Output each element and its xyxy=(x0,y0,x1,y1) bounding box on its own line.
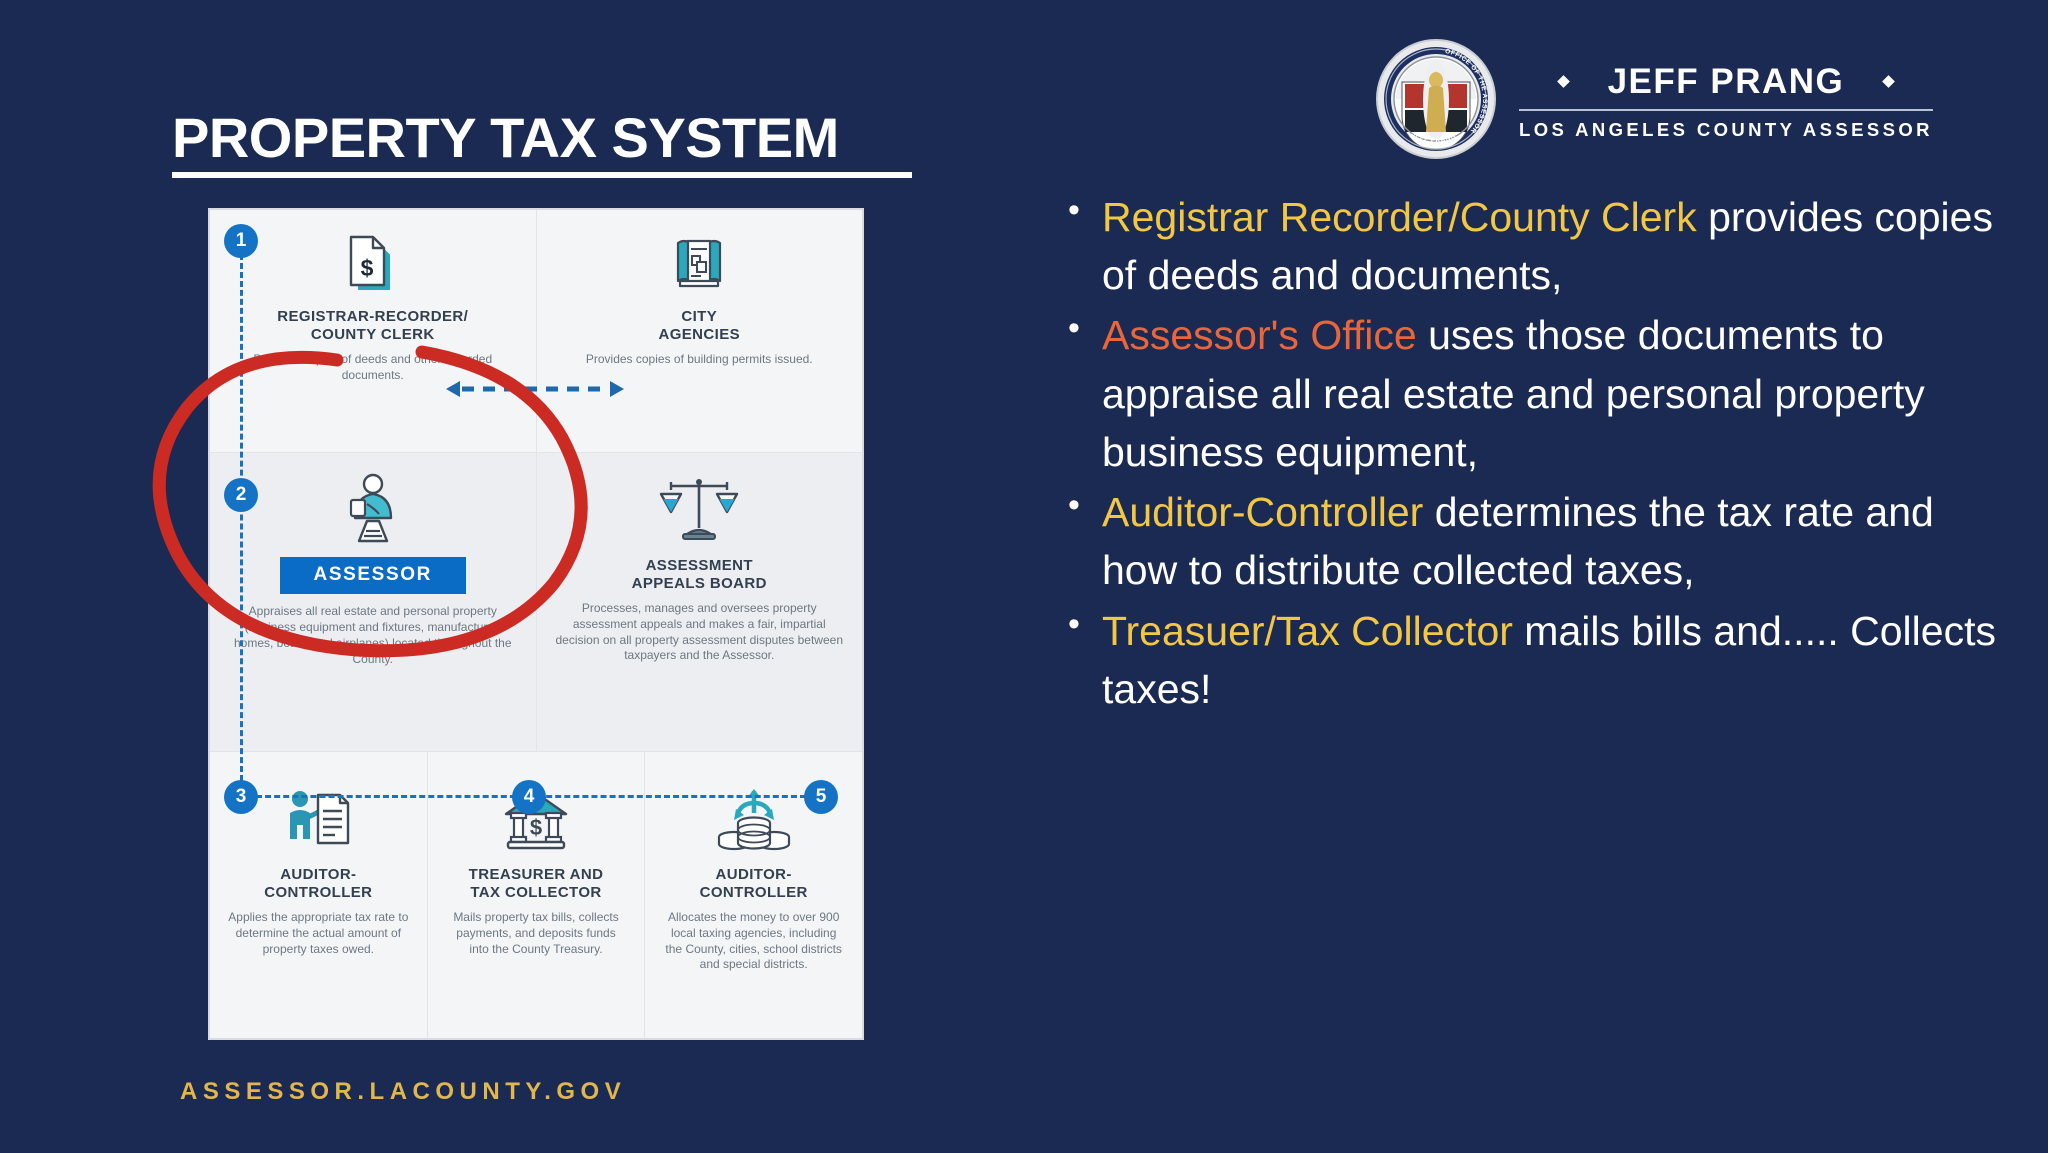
cell-title: AUDITOR- CONTROLLER xyxy=(222,866,415,903)
cell-title-line-1: TREASURER AND xyxy=(440,866,633,884)
bullet-item: Auditor-Controller determines the tax ra… xyxy=(1060,483,2000,599)
info-row-2: ASSESSOR Appraises all real estate and p… xyxy=(210,452,862,752)
svg-text:$: $ xyxy=(360,255,373,281)
la-county-assessor-seal-icon: OFFICE OF THE ASSESSOR JEFF PRANG xyxy=(1375,38,1497,160)
diamond-right-icon xyxy=(1882,75,1895,88)
scales-of-justice-icon xyxy=(549,471,851,549)
page-title: PROPERTY TAX SYSTEM xyxy=(172,105,839,170)
brand-block: OFFICE OF THE ASSESSOR JEFF PRANG JEFF P… xyxy=(1375,38,1933,160)
bullet-item: Treasuer/Tax Collector mails bills and..… xyxy=(1060,602,2000,718)
cell-title-line-2: TAX COLLECTOR xyxy=(440,884,633,902)
cell-title-line-1: CITY xyxy=(549,308,851,326)
cell-title-line-2: CONTROLLER xyxy=(222,884,415,902)
bullet-highlight: Registrar Recorder/County Clerk xyxy=(1102,194,1697,240)
cell-title-line-1: ASSESSMENT xyxy=(549,557,851,575)
cell-assessment-appeals-board: ASSESSMENT APPEALS BOARD Processes, mana… xyxy=(536,453,863,751)
step-marker-5: 5 xyxy=(804,780,838,814)
cell-title-line-1: AUDITOR- xyxy=(222,866,415,884)
blueprint-icon xyxy=(549,228,851,300)
cell-title-line-2: COUNTY CLERK xyxy=(222,326,524,344)
brand-divider xyxy=(1519,109,1933,111)
vertical-dashed-connector xyxy=(240,254,243,799)
cell-title-line-2: AGENCIES xyxy=(549,326,851,344)
bullet-highlight: Auditor-Controller xyxy=(1102,489,1423,535)
assessor-person-icon xyxy=(222,471,524,549)
cell-description: Applies the appropriate tax rate to dete… xyxy=(222,910,415,958)
step-marker-3: 3 xyxy=(224,780,258,814)
cell-title-line-1: AUDITOR- xyxy=(657,866,850,884)
cell-title: REGISTRAR-RECORDER/ COUNTY CLERK xyxy=(222,308,524,345)
bidirectional-dashed-arrow-icon xyxy=(442,378,628,400)
step-marker-4: 4 xyxy=(512,780,546,814)
cell-title: AUDITOR- CONTROLLER xyxy=(657,866,850,903)
property-tax-flow-infographic: 1 2 3 4 5 $ REGISTRAR-RECORDER/ COUNTY C… xyxy=(208,208,864,1040)
cell-description: Allocates the money to over 900 local ta… xyxy=(657,910,850,974)
cell-title: TREASURER AND TAX COLLECTOR xyxy=(440,866,633,903)
cell-title-line-2: APPEALS BOARD xyxy=(549,575,851,593)
cell-title: CITY AGENCIES xyxy=(549,308,851,345)
cell-title-line-2: CONTROLLER xyxy=(657,884,850,902)
brand-name-row: JEFF PRANG xyxy=(1559,62,1894,102)
document-dollar-icon: $ xyxy=(222,228,524,300)
cell-title-line-1: REGISTRAR-RECORDER/ xyxy=(222,308,524,326)
cell-registrar-recorder: $ REGISTRAR-RECORDER/ COUNTY CLERK Provi… xyxy=(210,210,536,452)
info-row-1: $ REGISTRAR-RECORDER/ COUNTY CLERK Provi… xyxy=(210,210,862,452)
bullet-item: Assessor's Office uses those documents t… xyxy=(1060,306,2000,481)
assessor-badge: ASSESSOR xyxy=(280,557,466,594)
bullet-item: Registrar Recorder/County Clerk provides… xyxy=(1060,188,2000,304)
bullet-highlight: Assessor's Office xyxy=(1102,312,1417,358)
step-marker-2: 2 xyxy=(224,478,258,512)
footer-url: ASSESSOR.LACOUNTY.GOV xyxy=(180,1078,626,1106)
cell-city-agencies: CITY AGENCIES Provides copies of buildin… xyxy=(536,210,863,452)
step-marker-1: 1 xyxy=(224,224,258,258)
cell-description: Appraises all real estate and personal p… xyxy=(222,604,524,668)
title-underline xyxy=(172,172,912,178)
cell-title: ASSESSMENT APPEALS BOARD xyxy=(549,557,851,594)
cell-description: Provides copies of building permits issu… xyxy=(549,352,851,368)
svg-text:$: $ xyxy=(530,815,542,840)
cell-description: Mails property tax bills, collects payme… xyxy=(440,910,633,958)
cell-assessor: ASSESSOR Appraises all real estate and p… xyxy=(210,453,536,751)
brand-subtitle: LOS ANGELES COUNTY ASSESSOR xyxy=(1519,119,1933,141)
bullet-highlight: Treasuer/Tax Collector xyxy=(1102,608,1513,654)
cell-description: Processes, manages and oversees property… xyxy=(549,601,851,665)
brand-text: JEFF PRANG LOS ANGELES COUNTY ASSESSOR xyxy=(1519,58,1933,141)
bullet-list: Registrar Recorder/County Clerk provides… xyxy=(1060,188,2000,720)
diamond-left-icon xyxy=(1557,75,1570,88)
brand-name: JEFF PRANG xyxy=(1608,62,1845,102)
